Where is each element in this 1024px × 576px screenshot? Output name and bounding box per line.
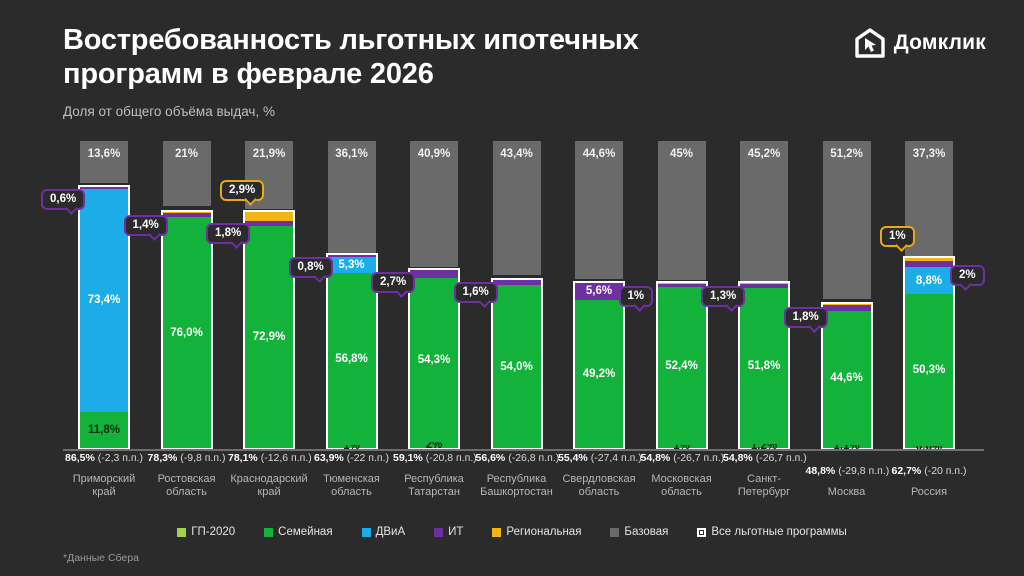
segment-value-label: 8,8%: [916, 275, 942, 287]
x-axis-group: 62,7% (-20 п.п.)Россия: [888, 465, 970, 500]
bar-all-programs: 76,0%: [161, 210, 213, 450]
total-share-label: 78,1% (-12,6 п.п.): [228, 452, 310, 464]
segment-callout-it: 2,7%: [371, 272, 415, 293]
x-axis-category-label: РеспубликаБашкортостан: [476, 473, 558, 501]
axis-baseline: [63, 449, 984, 451]
base-segment-label: 13,6%: [88, 148, 121, 183]
total-share-label: 54,8% (-26,7 п.п.): [723, 452, 805, 464]
segment-callout-it: 1%: [619, 286, 654, 307]
legend-label: ДВиА: [376, 526, 406, 538]
segment-value-label: 73,4%: [88, 294, 121, 306]
total-share-label: 59,1% (-20,8 п.п.): [393, 452, 475, 464]
segment-callout-reg: 2,9%: [220, 180, 264, 201]
bar-segment-gp2020: 1%: [658, 445, 706, 448]
x-axis-group: 78,3% (-9,8 п.п.)Ростовскаяобласть: [146, 452, 228, 501]
bar-segment-reg: [823, 304, 871, 305]
base-segment-label: 51,2%: [830, 148, 863, 299]
segment-value-label: 50,3%: [913, 364, 946, 376]
stacked-bar-chart: 13,6%0,6%11,8%73,4%86,5% (-2,3 п.п.)Прим…: [0, 0, 1024, 576]
bar-segment-base: 43,4%: [493, 141, 541, 275]
bar-all-programs: 1,1%44,6%: [821, 302, 873, 450]
legend-swatch-icon: [434, 528, 443, 537]
bar-segment-gp2020: 11,8%: [80, 412, 128, 448]
bar-segment-gp2020: 2%: [410, 442, 458, 448]
base-segment-label: 44,6%: [583, 148, 616, 279]
bar-all-programs: 0,6%50,3%8,8%: [903, 256, 955, 450]
legend-label: Семейная: [278, 526, 332, 538]
segment-value-label: 51,8%: [748, 360, 781, 372]
base-segment-label: 36,1%: [335, 148, 368, 253]
bar-segment-base: 13,6%: [80, 141, 128, 183]
legend-swatch-icon: [177, 528, 186, 537]
bar-segment-it: [493, 280, 541, 285]
x-axis-group: 54,8% (-26,7 п.п.)Московскаяобласть: [641, 452, 723, 501]
segment-value-label: 49,2%: [583, 368, 616, 380]
legend-item[interactable]: ИТ: [434, 526, 463, 538]
chart-legend: ГП-2020СемейнаяДВиАИТРегиональнаяБазовая…: [0, 526, 1024, 538]
bar-segment-family: 54,3%: [410, 278, 458, 442]
bar-segment-family: 52,4%: [658, 287, 706, 445]
base-segment-label: 43,4%: [500, 148, 533, 275]
x-axis-category-label: Краснодарскийкрай: [228, 473, 310, 501]
segment-value-label: 76,0%: [170, 327, 203, 339]
bar-all-programs: 11,8%73,4%: [78, 185, 130, 450]
segment-value-label: 11,8%: [88, 424, 120, 436]
total-share-label: 56,6% (-26,8 п.п.): [476, 452, 558, 464]
bar-segment-family: 54,0%: [493, 285, 541, 448]
total-share-label: 54,8% (-26,7 п.п.): [641, 452, 723, 464]
legend-item[interactable]: Семейная: [264, 526, 332, 538]
bar-all-programs: 72,9%: [243, 210, 295, 450]
x-axis-group: 59,1% (-20,8 п.п.)РеспубликаТатарстан: [393, 452, 475, 501]
x-axis-category-label: Санкт-Петербург: [723, 473, 805, 501]
bar-segment-it: [80, 187, 128, 189]
bar-segment-it: [658, 284, 706, 287]
bar-segment-family: 50,3%: [905, 294, 953, 446]
segment-callout-it: 0,6%: [41, 189, 85, 210]
bar-segment-it: [905, 261, 953, 267]
legend-swatch-icon: [697, 528, 706, 537]
segment-callout-reg: 1%: [880, 226, 915, 247]
x-axis-category-label: РеспубликаТатарстан: [393, 473, 475, 501]
bar-all-programs: 1,2%51,8%: [738, 281, 790, 450]
x-axis-category-label: Россия: [888, 486, 970, 500]
bar-segment-reg: [658, 283, 706, 284]
segment-callout-it: 1,4%: [124, 215, 168, 236]
bar-segment-base: 45%: [658, 141, 706, 280]
bar-segment-it: [410, 270, 458, 278]
legend-item[interactable]: Базовая: [610, 526, 668, 538]
base-segment-label: 21%: [175, 148, 198, 206]
segment-callout-it: 1,8%: [784, 307, 828, 328]
base-segment-label: 45%: [670, 148, 693, 280]
segment-value-label: 5,6%: [586, 285, 612, 297]
bar-all-programs: 54,0%: [491, 278, 543, 450]
x-axis-category-label: Московскаяобласть: [641, 473, 723, 501]
total-share-label: 48,8% (-29,8 п.п.): [806, 465, 888, 477]
legend-label: ИТ: [448, 526, 463, 538]
total-share-label: 78,3% (-9,8 п.п.): [146, 452, 228, 464]
legend-label: Региональная: [506, 526, 581, 538]
bar-segment-it: 5,6%: [575, 283, 623, 300]
bar-segment-reg: [245, 212, 293, 221]
x-axis-category-label: Москва: [806, 486, 888, 500]
bar-segment-reg: [163, 212, 211, 213]
bar-segment-dvia: 5,3%: [328, 257, 376, 273]
bar-segment-gp2020: 0,6%: [905, 446, 953, 448]
bar-all-programs: 2%54,3%: [408, 268, 460, 450]
bar-segment-base: 45,2%: [740, 141, 788, 281]
bar-segment-family: 44,6%: [823, 311, 871, 445]
bar-segment-family: 76,0%: [163, 217, 211, 448]
legend-item[interactable]: ГП-2020: [177, 526, 235, 538]
segment-callout-it: 0,8%: [289, 257, 333, 278]
bar-segment-base: 40,9%: [410, 141, 458, 267]
x-axis-group: 63,9% (-22 п.п.)Тюменскаяобласть: [311, 452, 393, 501]
x-axis-group: 55,4% (-27,4 п.п.)Свердловскаяобласть: [558, 452, 640, 501]
legend-item[interactable]: Региональная: [492, 526, 581, 538]
legend-item[interactable]: ДВиА: [362, 526, 406, 538]
segment-callout-it: 1,3%: [701, 286, 745, 307]
total-share-label: 86,5% (-2,3 п.п.): [63, 452, 145, 464]
segment-value-label: 5,3%: [338, 259, 364, 271]
total-share-label: 63,9% (-22 п.п.): [311, 452, 393, 464]
bar-segment-dvia: 8,8%: [905, 267, 953, 294]
segment-value-label: 54,0%: [500, 361, 533, 373]
bar-segment-dvia: 73,4%: [80, 189, 128, 412]
segment-callout-it: 2%: [950, 265, 985, 286]
x-axis-group: 56,6% (-26,8 п.п.)РеспубликаБашкортостан: [476, 452, 558, 501]
bar-segment-gp2020: 1%: [328, 445, 376, 448]
chart-page: Востребованность льготных ипотечных прог…: [0, 0, 1024, 576]
bar-segment-it: [823, 305, 871, 310]
x-axis-group: 54,8% (-26,7 п.п.)Санкт-Петербург: [723, 452, 805, 501]
bar-segment-family: 49,2%: [575, 300, 623, 448]
legend-swatch-icon: [492, 528, 501, 537]
legend-swatch-icon: [610, 528, 619, 537]
legend-item[interactable]: Все льготные программы: [697, 526, 846, 538]
bar-segment-base: 44,6%: [575, 141, 623, 279]
legend-swatch-icon: [264, 528, 273, 537]
base-segment-label: 37,3%: [913, 148, 946, 256]
segment-callout-it: 1,6%: [454, 282, 498, 303]
base-segment-label: 45,2%: [748, 148, 781, 281]
segment-value-label: 72,9%: [253, 331, 286, 343]
legend-label: ГП-2020: [191, 526, 235, 538]
bar-segment-family: 51,8%: [740, 288, 788, 444]
bar-segment-base: 21%: [163, 141, 211, 206]
bar-all-programs: 1%52,4%: [656, 281, 708, 450]
x-axis-group: 86,5% (-2,3 п.п.)Приморскийкрай: [63, 452, 145, 501]
bar-all-programs: 49,2%5,6%: [573, 281, 625, 450]
segment-callout-it: 1,8%: [206, 223, 250, 244]
x-axis-category-label: Приморскийкрай: [63, 473, 145, 501]
segment-value-label: 54,3%: [418, 354, 451, 366]
bar-all-programs: 1%56,8%5,3%: [326, 253, 378, 450]
bar-segment-base: 36,1%: [328, 141, 376, 253]
segment-value-label: 44,6%: [830, 372, 863, 384]
x-axis-category-label: Ростовскаяобласть: [146, 473, 228, 501]
bar-segment-family: 72,9%: [245, 226, 293, 448]
bar-segment-it: [328, 255, 376, 257]
bar-segment-gp2020: 1,2%: [740, 444, 788, 448]
legend-label: Все льготные программы: [711, 526, 846, 538]
total-share-label: 62,7% (-20 п.п.): [888, 465, 970, 477]
bar-segment-family: 56,8%: [328, 273, 376, 445]
total-share-label: 55,4% (-27,4 п.п.): [558, 452, 640, 464]
legend-label: Базовая: [624, 526, 668, 538]
segment-value-label: 56,8%: [335, 353, 368, 365]
x-axis-group: 48,8% (-29,8 п.п.)Москва: [806, 465, 888, 500]
x-axis-category-label: Свердловскаяобласть: [558, 473, 640, 501]
segment-value-label: 52,4%: [665, 360, 698, 372]
bar-segment-it: [163, 213, 211, 217]
source-footnote: *Данные Сбера: [63, 552, 139, 564]
bar-segment-base: 51,2%: [823, 141, 871, 299]
bar-segment-reg: [905, 258, 953, 261]
bar-segment-it: [740, 284, 788, 288]
base-segment-label: 40,9%: [418, 148, 451, 267]
bar-segment-it: [245, 221, 293, 226]
bar-segment-gp2020: 1,1%: [823, 445, 871, 448]
x-axis-group: 78,1% (-12,6 п.п.)Краснодарскийкрай: [228, 452, 310, 501]
legend-swatch-icon: [362, 528, 371, 537]
bar-segment-reg: [740, 283, 788, 284]
x-axis-category-label: Тюменскаяобласть: [311, 473, 393, 501]
